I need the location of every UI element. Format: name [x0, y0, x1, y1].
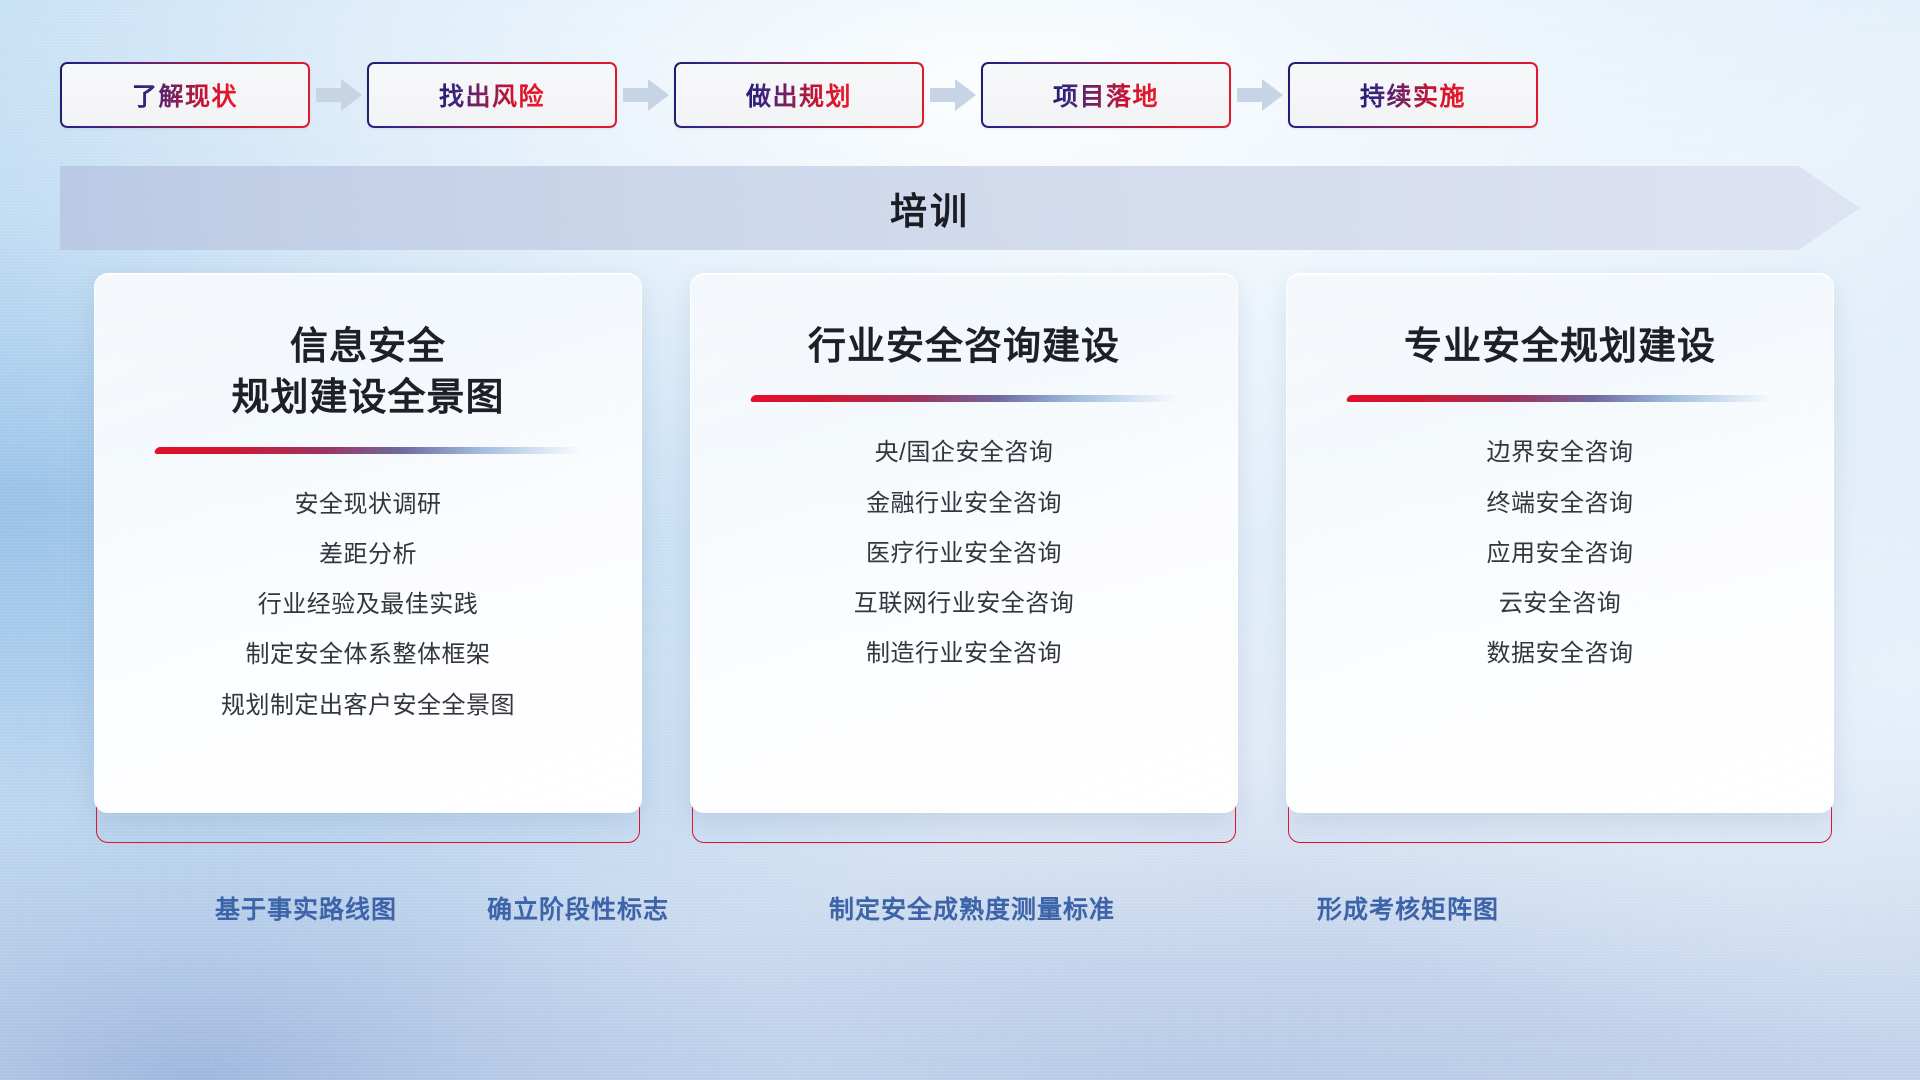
training-banner: 培训: [60, 166, 1860, 250]
card-3[interactable]: 专业安全规划建设 边界安全咨询 终端安全咨询 应用安全咨询 云安全咨询 数据安全…: [1286, 273, 1834, 843]
footer-label-row: 基于事实路线图 确立阶段性标志 制定安全成熟度测量标准 形成考核矩阵图: [60, 890, 1860, 934]
card-title: 行业安全咨询建设: [691, 322, 1237, 373]
step-label: 找出风险: [439, 77, 545, 113]
list-item: 云安全咨询: [1499, 583, 1622, 624]
list-item: 行业经验及最佳实践: [258, 584, 479, 625]
card-surface: 行业安全咨询建设 央/国企安全咨询 金融行业安全咨询 医疗行业安全咨询 互联网行…: [690, 273, 1238, 813]
right-arrow-icon: [310, 62, 367, 128]
right-arrow-icon: [924, 62, 981, 128]
list-item: 制定安全体系整体框架: [246, 634, 491, 675]
banner-title: 培训: [60, 166, 1800, 250]
card-1[interactable]: 信息安全 规划建设全景图 安全现状调研 差距分析 行业经验及最佳实践 制定安全体…: [94, 273, 642, 843]
card-2[interactable]: 行业安全咨询建设 央/国企安全咨询 金融行业安全咨询 医疗行业安全咨询 互联网行…: [690, 273, 1238, 843]
card-item-list: 边界安全咨询 终端安全咨询 应用安全咨询 云安全咨询 数据安全咨询: [1287, 432, 1833, 674]
step-label: 持续实施: [1360, 77, 1466, 113]
step-box-1[interactable]: 了解现状: [60, 62, 310, 128]
list-item: 医疗行业安全咨询: [866, 533, 1062, 574]
footer-label-2: 确立阶段性标志: [487, 890, 669, 926]
list-item: 边界安全咨询: [1487, 432, 1634, 473]
step-box-5[interactable]: 持续实施: [1288, 62, 1538, 128]
card-item-list: 安全现状调研 差距分析 行业经验及最佳实践 制定安全体系整体框架 规划制定出客户…: [95, 484, 641, 726]
card-surface: 信息安全 规划建设全景图 安全现状调研 差距分析 行业经验及最佳实践 制定安全体…: [94, 273, 642, 813]
step-box-3[interactable]: 做出规划: [674, 62, 924, 128]
footer-label-1: 基于事实路线图: [215, 890, 397, 926]
step-box-4[interactable]: 项目落地: [981, 62, 1231, 128]
process-step-row: 了解现状 找出风险 做出规划 项目落地: [60, 62, 1860, 128]
list-item: 差距分析: [319, 534, 417, 575]
list-item: 终端安全咨询: [1487, 483, 1634, 524]
footer-label-3: 制定安全成熟度测量标准: [829, 890, 1115, 926]
list-item: 数据安全咨询: [1487, 633, 1634, 674]
right-arrow-icon: [1231, 62, 1288, 128]
list-item: 制造行业安全咨询: [866, 633, 1062, 674]
card-divider: [1346, 395, 1775, 402]
card-title: 专业安全规划建设: [1287, 322, 1833, 373]
list-item: 金融行业安全咨询: [866, 483, 1062, 524]
list-item: 规划制定出客户安全全景图: [221, 685, 515, 726]
card-divider: [750, 395, 1179, 402]
card-surface: 专业安全规划建设 边界安全咨询 终端安全咨询 应用安全咨询 云安全咨询 数据安全…: [1286, 273, 1834, 813]
card-divider: [154, 447, 583, 454]
list-item: 应用安全咨询: [1487, 533, 1634, 574]
right-arrow-icon: [617, 62, 674, 128]
card-row: 信息安全 规划建设全景图 安全现状调研 差距分析 行业经验及最佳实践 制定安全体…: [94, 273, 1834, 843]
card-title: 信息安全 规划建设全景图: [95, 322, 641, 425]
step-box-2[interactable]: 找出风险: [367, 62, 617, 128]
step-label: 做出规划: [746, 77, 852, 113]
list-item: 安全现状调研: [295, 484, 442, 525]
step-label: 项目落地: [1053, 77, 1159, 113]
list-item: 央/国企安全咨询: [875, 432, 1054, 473]
card-item-list: 央/国企安全咨询 金融行业安全咨询 医疗行业安全咨询 互联网行业安全咨询 制造行…: [691, 432, 1237, 674]
slide-canvas: 了解现状 找出风险 做出规划 项目落地: [0, 0, 1920, 1080]
step-label: 了解现状: [132, 77, 238, 113]
footer-label-4: 形成考核矩阵图: [1317, 890, 1499, 926]
list-item: 互联网行业安全咨询: [854, 583, 1075, 624]
